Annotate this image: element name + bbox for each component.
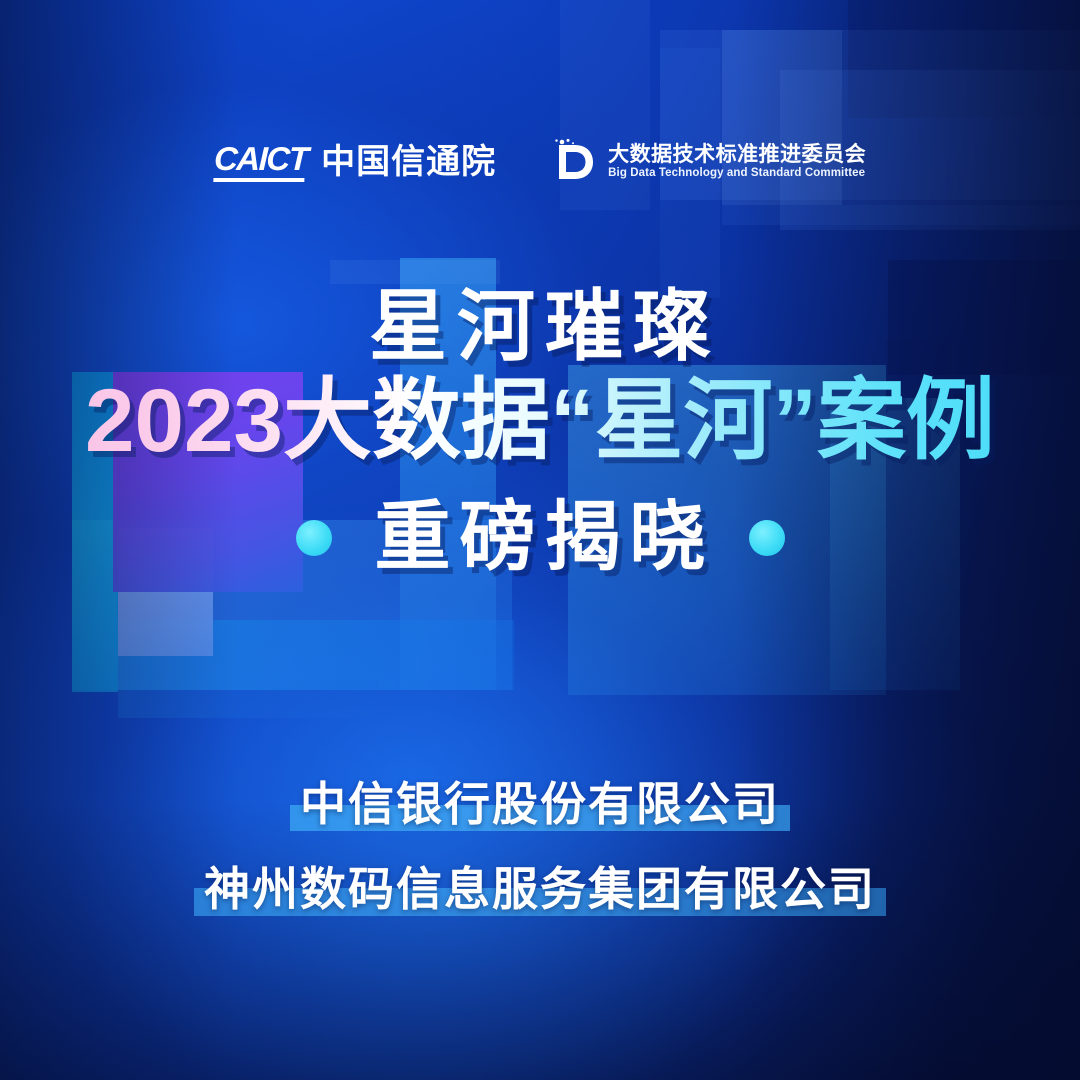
logo-row: CAICT 中国信通院 大数据技术标准推进委员会 Big Data Techno… <box>0 138 1080 186</box>
bg-block-bottom-left <box>118 680 378 718</box>
bg-block-center-wedge <box>330 260 500 284</box>
bdtsc-logo: 大数据技术标准推进委员会 Big Data Technology and Sta… <box>552 138 866 186</box>
headline-line-1: 星河璀璨 <box>0 286 1080 368</box>
stylized-d-logo-icon <box>552 138 596 186</box>
winners-list: 中信银行股份有限公司 神州数码信息服务集团有限公司 <box>0 778 1080 918</box>
headline-group: 星河璀璨 2023大数据“星河”案例 重磅揭晓 <box>0 286 1080 578</box>
caict-wordmark: CAICT <box>213 142 308 182</box>
poster-canvas: CAICT 中国信通院 大数据技术标准推进委员会 Big Data Techno… <box>0 0 1080 1080</box>
headline-line-2: 2023大数据“星河”案例 <box>0 372 1080 468</box>
bdtsc-name-en: Big Data Technology and Standard Committ… <box>608 168 866 180</box>
cyan-dot-left-icon <box>296 520 332 556</box>
headline-line-3-row: 重磅揭晓 <box>0 498 1080 578</box>
caict-name-cn: 中国信通院 <box>321 145 496 179</box>
cyan-dot-right-icon <box>749 520 785 556</box>
winner-item: 神州数码信息服务集团有限公司 <box>194 863 886 918</box>
bdtsc-name-cn: 大数据技术标准推进委员会 <box>608 144 866 165</box>
caict-logo: CAICT 中国信通院 <box>214 142 496 182</box>
bdtsc-text-group: 大数据技术标准推进委员会 Big Data Technology and Sta… <box>608 144 866 180</box>
headline-line-3: 重磅揭晓 <box>366 498 715 578</box>
winner-item: 中信银行股份有限公司 <box>290 778 790 833</box>
bg-block-topright-5 <box>722 205 1080 225</box>
